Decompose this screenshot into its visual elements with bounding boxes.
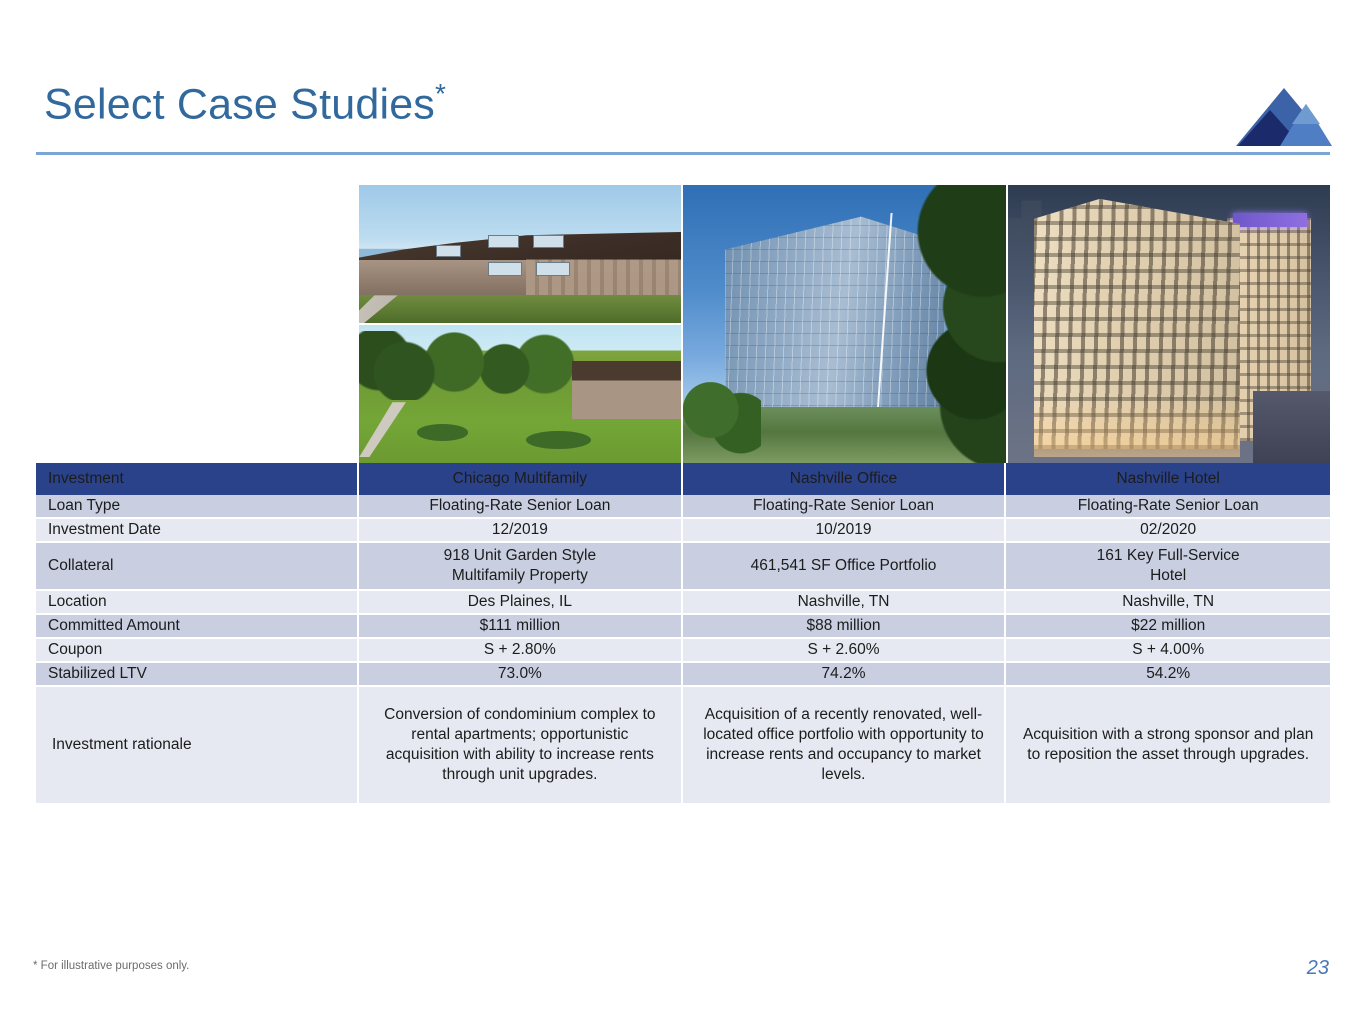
window-shape	[536, 262, 570, 276]
table-row: Stabilized LTV 73.0% 74.2% 54.2%	[36, 663, 1330, 687]
cell-collateral-office: 461,541 SF Office Portfolio	[683, 543, 1007, 591]
cell-location-hotel: Nashville, TN	[1006, 591, 1330, 615]
shrub-shape	[417, 424, 469, 441]
row-label-stabilized-ltv: Stabilized LTV	[36, 663, 359, 687]
cell-stabilized-ltv-hotel: 54.2%	[1006, 663, 1330, 687]
cell-investment-date-hotel: 02/2020	[1006, 519, 1330, 543]
background-building-shape	[572, 361, 681, 419]
hotel-sign-shape	[1233, 213, 1307, 227]
cell-investment-date-chicago: 12/2019	[359, 519, 683, 543]
cell-committed-amount-office: $88 million	[683, 615, 1007, 639]
row-label-loan-type: Loan Type	[36, 495, 359, 519]
table-row: Loan Type Floating-Rate Senior Loan Floa…	[36, 495, 1330, 519]
column-header-nashville-hotel: Nashville Hotel	[1006, 463, 1330, 495]
window-shape	[533, 235, 564, 248]
column-header-chicago-multifamily: Chicago Multifamily	[359, 463, 683, 495]
table-row: Investment Date 12/2019 10/2019 02/2020	[36, 519, 1330, 543]
cell-collateral-hotel: 161 Key Full-Service Hotel	[1006, 543, 1330, 591]
row-label-investment-rationale: Investment rationale	[36, 687, 359, 805]
table-row: Location Des Plaines, IL Nashville, TN N…	[36, 591, 1330, 615]
photo-column-chicago	[359, 185, 681, 463]
row-label-collateral: Collateral	[36, 543, 359, 591]
cell-rationale-chicago: Conversion of condominium complex to ren…	[359, 687, 683, 805]
photo-strip	[359, 185, 1330, 463]
footnote: * For illustrative purposes only.	[33, 960, 189, 972]
nashville-office-photo	[683, 185, 1006, 463]
mountain-logo-icon	[1232, 86, 1332, 148]
cell-loan-type-office: Floating-Rate Senior Loan	[683, 495, 1007, 519]
cell-rationale-office: Acquisition of a recently renovated, wel…	[683, 687, 1007, 805]
page-number: 23	[1307, 957, 1329, 980]
case-studies-table: Investment Chicago Multifamily Nashville…	[36, 463, 1330, 805]
title-footnote-marker: *	[435, 78, 446, 109]
tree-shape	[683, 363, 761, 458]
cell-location-chicago: Des Plaines, IL	[359, 591, 683, 615]
cell-committed-amount-hotel: $22 million	[1006, 615, 1330, 639]
table-row: Collateral 918 Unit Garden Style Multifa…	[36, 543, 1330, 591]
tree-shape	[916, 185, 1006, 463]
cell-coupon-office: S + 2.60%	[683, 639, 1007, 663]
cell-loan-type-hotel: Floating-Rate Senior Loan	[1006, 495, 1330, 519]
cell-collateral-chicago: 918 Unit Garden Style Multifamily Proper…	[359, 543, 683, 591]
photo-column-nashville-hotel	[1008, 185, 1330, 463]
mountain-logo	[1232, 86, 1332, 148]
grass-shape	[359, 295, 681, 323]
row-label-coupon: Coupon	[36, 639, 359, 663]
row-label-investment-date: Investment Date	[36, 519, 359, 543]
nashville-hotel-photo	[1008, 185, 1330, 463]
column-header-investment: Investment	[36, 463, 359, 495]
table-row: Investment rationale Conversion of condo…	[36, 687, 1330, 805]
window-shape	[488, 235, 519, 248]
cell-coupon-hotel: S + 4.00%	[1006, 639, 1330, 663]
cell-stabilized-ltv-office: 74.2%	[683, 663, 1007, 687]
window-shape	[436, 245, 461, 257]
table-header-row: Investment Chicago Multifamily Nashville…	[36, 463, 1330, 495]
street-shape	[1253, 391, 1330, 463]
table-body: Loan Type Floating-Rate Senior Loan Floa…	[36, 495, 1330, 805]
column-header-nashville-office: Nashville Office	[683, 463, 1007, 495]
cell-investment-date-office: 10/2019	[683, 519, 1007, 543]
window-shape	[488, 262, 522, 276]
page-title: Select Case Studies*	[44, 80, 1330, 126]
photo-column-nashville-office	[683, 185, 1006, 463]
cell-rationale-hotel: Acquisition with a strong sponsor and pl…	[1006, 687, 1330, 805]
table-row: Committed Amount $111 million $88 millio…	[36, 615, 1330, 639]
cell-loan-type-chicago: Floating-Rate Senior Loan	[359, 495, 683, 519]
row-label-committed-amount: Committed Amount	[36, 615, 359, 639]
row-label-location: Location	[36, 591, 359, 615]
cell-location-office: Nashville, TN	[683, 591, 1007, 615]
facade-uplight-glow	[1034, 396, 1240, 457]
chicago-multifamily-photo-grounds	[359, 325, 681, 463]
header-divider	[36, 152, 1330, 155]
table-row: Coupon S + 2.80% S + 2.60% S + 4.00%	[36, 639, 1330, 663]
chicago-multifamily-photo-exterior	[359, 185, 681, 323]
shrub-shape	[526, 431, 590, 449]
cell-committed-amount-chicago: $111 million	[359, 615, 683, 639]
cell-coupon-chicago: S + 2.80%	[359, 639, 683, 663]
page-title-text: Select Case Studies	[44, 80, 435, 128]
cell-stabilized-ltv-chicago: 73.0%	[359, 663, 683, 687]
